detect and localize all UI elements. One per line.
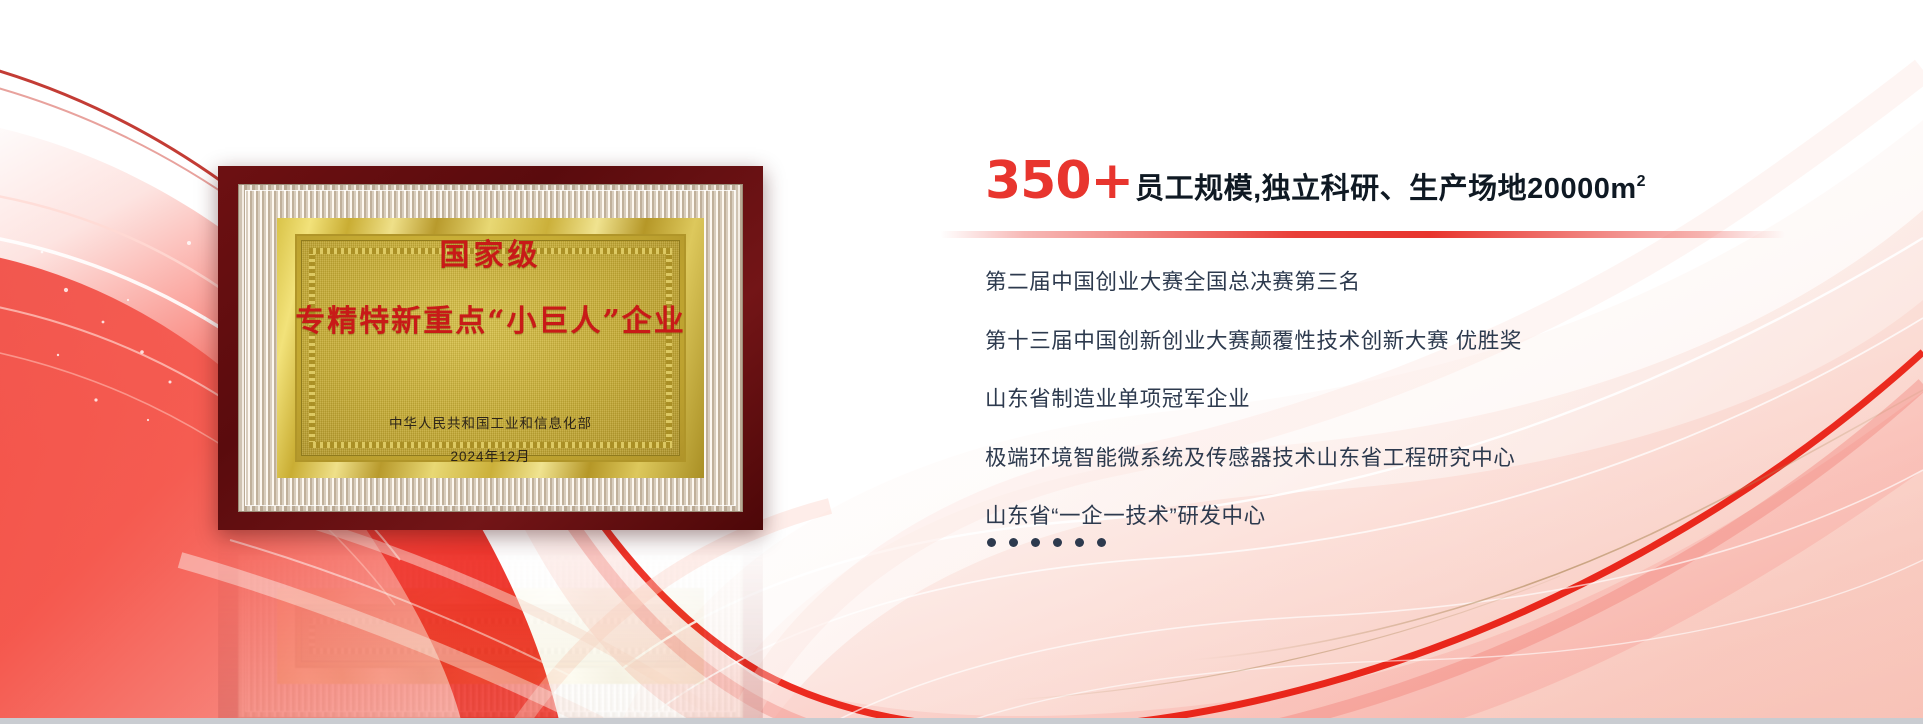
award-list-item: 第十三届中国创新创业大赛颠覆性技术创新大赛 优胜奖 [985, 331, 1845, 353]
content-column: 350+ 员工规模,独立科研、生产场地20000m 2 第二届中国创业大赛全国总… [985, 155, 1845, 207]
award-list-item: 第二届中国创业大赛全国总决赛第三名 [985, 272, 1845, 294]
headline-text: 员工规模,独立科研、生产场地20000m [1135, 175, 1637, 204]
award-list-item: 极端环境智能微系统及传感器技术山东省工程研究中心 [985, 448, 1845, 470]
plaque-reflection [218, 536, 763, 724]
plaque-title-line1: 国家级 [440, 230, 542, 274]
reflection-gold-outer [277, 588, 704, 684]
plaque-date: 2024年12月 [450, 445, 530, 465]
plaque-text-block: 国家级 专精特新重点“小巨人”企业 中华人民共和国工业和信息化部 2024年12… [218, 166, 763, 530]
ellipsis-dot [1075, 538, 1084, 547]
ellipsis-dot [1031, 538, 1040, 547]
banner-stage: 国家级 专精特新重点“小巨人”企业 中华人民共和国工业和信息化部 2024年12… [0, 0, 1923, 724]
ellipsis-dot [987, 538, 996, 547]
headline-underline-rule [940, 231, 1785, 238]
ellipsis-dot [1097, 538, 1106, 547]
ellipsis-dot [1009, 538, 1018, 547]
headline-superscript: 2 [1637, 174, 1646, 190]
bottom-divider [0, 718, 1923, 724]
reflection-gold-inner [295, 604, 686, 668]
award-list-item: 山东省制造业单项冠军企业 [985, 389, 1845, 411]
award-list-item: 山东省“一企一技术”研发中心 [985, 506, 1845, 528]
reflection-frame [218, 536, 763, 724]
plaque-issuer: 中华人民共和国工业和信息化部 [389, 412, 592, 432]
plaque-title-line2: 专精特新重点“小巨人”企业 [295, 296, 686, 340]
award-list: 第二届中国创业大赛全国总决赛第三名 第十三届中国创新创业大赛颠覆性技术创新大赛 … [985, 272, 1845, 565]
ellipsis-dots [987, 538, 1106, 547]
reflection-silver-border [238, 554, 743, 718]
headline: 350+ 员工规模,独立科研、生产场地20000m 2 [985, 155, 1845, 207]
award-plaque[interactable]: 国家级 专精特新重点“小巨人”企业 中华人民共和国工业和信息化部 2024年12… [218, 166, 763, 530]
ellipsis-dot [1053, 538, 1062, 547]
employee-count-number: 350+ [985, 155, 1133, 207]
